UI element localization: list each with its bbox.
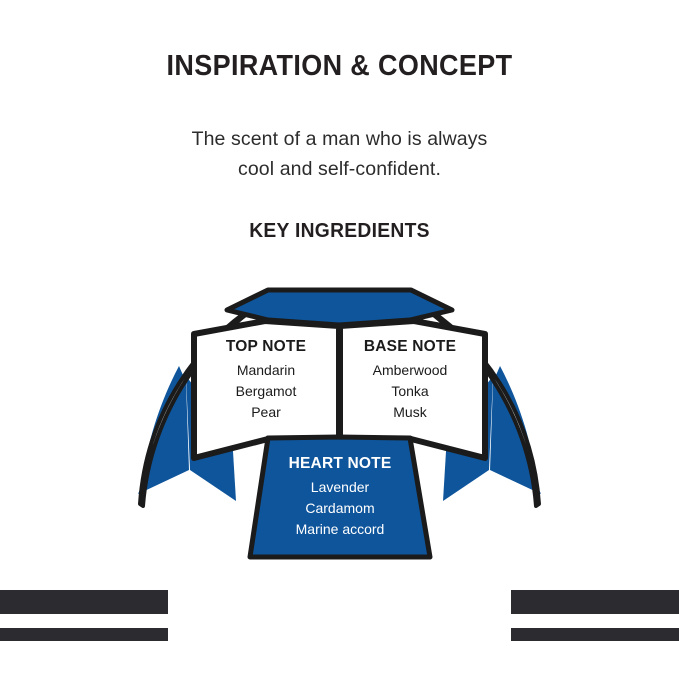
heart-note-item-2: Cardamom: [305, 500, 374, 516]
base-note-item-3: Musk: [393, 404, 427, 420]
subtitle-line-2: cool and self-confident.: [0, 154, 679, 184]
heart-note-item-3: Marine accord: [296, 521, 385, 537]
subtitle-line-1: The scent of a man who is always: [192, 128, 488, 150]
page-title: INSPIRATION & CONCEPT: [24, 50, 655, 83]
infographic-page: INSPIRATION & CONCEPT The scent of a man…: [0, 0, 679, 679]
heart-note-title: HEART NOTE: [289, 455, 392, 472]
section-heading-key-ingredients: KEY INGREDIENTS: [20, 219, 658, 243]
top-note-item-2: Bergamot: [236, 383, 297, 399]
base-note-title: BASE NOTE: [364, 338, 456, 355]
top-note-title: TOP NOTE: [226, 338, 306, 355]
top-note-item-3: Pear: [251, 404, 281, 420]
footer-bar-right-top: [511, 590, 679, 614]
base-note-item-1: Amberwood: [373, 362, 448, 378]
top-note-item-1: Mandarin: [237, 362, 295, 378]
heart-note-item-1: Lavender: [311, 479, 370, 495]
footer-bar-left-bottom: [0, 628, 168, 641]
footer-bar-left-top: [0, 590, 168, 614]
soccer-ball-svg: TOP NOTE Mandarin Bergamot Pear BASE NOT…: [0, 272, 679, 572]
footer-bar-right-bottom: [511, 628, 679, 641]
key-ingredients-diagram: TOP NOTE Mandarin Bergamot Pear BASE NOT…: [0, 272, 679, 572]
subtitle: The scent of a man who is always cool an…: [0, 124, 679, 184]
base-note-item-2: Tonka: [391, 383, 429, 399]
